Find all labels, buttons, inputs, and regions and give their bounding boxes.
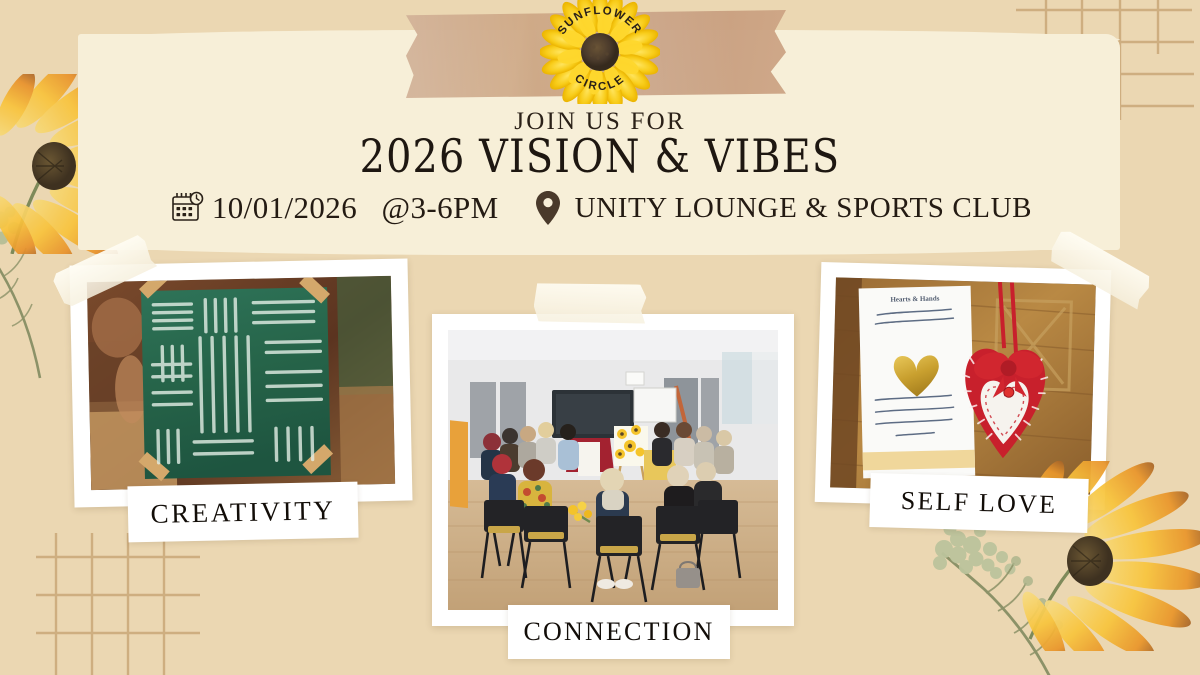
svg-text:Hearts & Hands: Hearts & Hands bbox=[890, 294, 939, 303]
photo-card-connection[interactable] bbox=[432, 314, 794, 626]
event-datetime: 10/01/2026 @3-6PM bbox=[168, 188, 499, 228]
photo-creativity bbox=[87, 276, 395, 490]
photo-creativity-art bbox=[87, 276, 395, 490]
grid-bottom-left-svg bbox=[28, 525, 218, 675]
sunflower-logo-svg: SUNFLOWER CIRCLE bbox=[540, 0, 660, 104]
photo-card-selflove[interactable]: Hearts & Hands bbox=[815, 262, 1112, 510]
washi-tape-top-center bbox=[533, 279, 647, 327]
event-venue: UNITY LOUNGE & SPORTS CLUB bbox=[575, 192, 1032, 225]
event-location: UNITY LOUNGE & SPORTS CLUB bbox=[499, 189, 1032, 227]
page-title: 2026 VISION & VIBES bbox=[24, 132, 1176, 182]
caption-connection: CONNECTION bbox=[508, 605, 730, 659]
caption-selflove: SELF LOVE bbox=[869, 473, 1088, 533]
location-pin-svg bbox=[533, 189, 563, 227]
calendar-clock-svg bbox=[168, 188, 208, 228]
event-date-time: 10/01/2026 @3-6PM bbox=[212, 190, 499, 226]
calendar-clock-icon bbox=[168, 188, 208, 228]
photo-connection-art bbox=[448, 330, 778, 610]
flyer-canvas: SUNFLOWER CIRCLE JOIN US FOR 2026 VISION… bbox=[0, 0, 1200, 675]
grid-pattern-icon bbox=[28, 525, 218, 675]
sunflower-circle-logo: SUNFLOWER CIRCLE bbox=[540, 0, 660, 104]
photo-selflove: Hearts & Hands bbox=[830, 277, 1096, 494]
location-pin-icon bbox=[533, 189, 563, 227]
photo-card-creativity[interactable] bbox=[70, 258, 413, 507]
caption-creativity: CREATIVITY bbox=[127, 482, 358, 543]
photo-selflove-art: Hearts & Hands bbox=[830, 277, 1096, 494]
event-meta-row: 10/01/2026 @3-6PM UNITY LOUNGE & SPORTS … bbox=[0, 188, 1200, 228]
photo-connection bbox=[448, 330, 778, 610]
